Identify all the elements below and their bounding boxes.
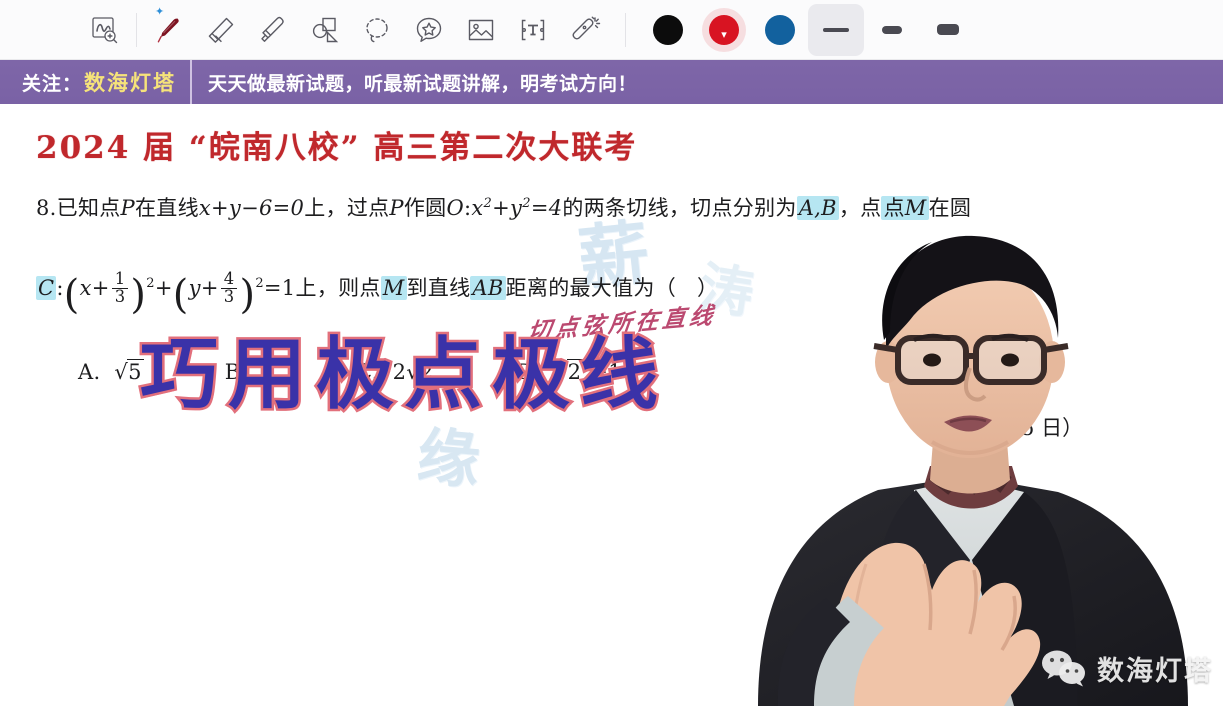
q-text-f: ，点 <box>839 196 882 220</box>
eraser-icon[interactable] <box>195 4 247 56</box>
q-text-2d: 距离的最大值为（ <box>506 276 676 300</box>
q-text-2b: ，则点 <box>317 276 381 300</box>
fraction-one-third: 13 <box>112 271 129 305</box>
overlay-title: 巧用极点极线 <box>140 312 668 424</box>
wechat-icon <box>1040 648 1088 688</box>
watermark-account-name: 数海灯塔 <box>1097 649 1213 688</box>
chevron-down-icon: ▾ <box>721 30 727 41</box>
option-a[interactable]: A. √5 <box>78 360 144 384</box>
q-colon: : <box>56 276 63 300</box>
text-box-icon[interactable] <box>507 4 559 56</box>
q-text-b: 在直线 <box>135 196 199 220</box>
paren-open-1: ( <box>64 272 80 318</box>
presenter-figure <box>718 160 1223 706</box>
presenter-video-overlay <box>718 160 1223 706</box>
q-circle-equation: x2+y2=4 <box>471 196 562 220</box>
q-text-a: 已知点 <box>57 196 121 220</box>
fraction-four-thirds: 43 <box>221 271 238 305</box>
q-text-c: 上，过点 <box>304 196 389 220</box>
q-y-plus: y+ <box>189 276 219 300</box>
thickness-bar <box>823 28 849 32</box>
thickness-thick[interactable] <box>920 4 976 56</box>
thickness-bar <box>882 26 902 34</box>
banner-brand-name: 数海灯塔 <box>84 67 176 97</box>
color-swatch <box>653 15 683 45</box>
exam-title: 2024 届 “皖南八校” 高三第二次大联考 <box>36 122 637 167</box>
question-number: 8. <box>36 196 57 220</box>
shapes-icon[interactable] <box>299 4 351 56</box>
color-swatch <box>765 15 795 45</box>
toolbar-divider-1 <box>136 13 137 47</box>
wechat-watermark: 数海灯塔 <box>1040 648 1213 688</box>
banner-slogan: 天天做最新试题，听最新试题讲解，明考试方向！ <box>192 69 637 96</box>
sticker-icon[interactable] <box>403 4 455 56</box>
q-equation-line: x+y−6=0 <box>199 196 304 220</box>
question-line-1: 8.已知点P在直线x+y−6=0上，过点P作圆O:x2+y2=4的两条切线，切点… <box>36 192 971 222</box>
pen-icon[interactable]: ✦ <box>143 4 195 56</box>
q-plus: + <box>155 276 173 300</box>
toolbar-divider-2 <box>625 13 626 47</box>
q-text-2c: 到直线 <box>407 276 471 300</box>
q-text-g: 在圆 <box>929 196 972 220</box>
bluetooth-icon: ✦ <box>155 7 164 18</box>
magic-eraser-icon[interactable] <box>559 4 611 56</box>
thickness-bar <box>937 24 959 35</box>
q-var-O: O <box>446 196 464 220</box>
thickness-medium[interactable] <box>864 4 920 56</box>
promo-banner: 关注： 数海灯塔 天天做最新试题，听最新试题讲解，明考试方向！ <box>0 60 1223 104</box>
q-x-plus: x+ <box>80 276 110 300</box>
q-text-e: 的两条切线，切点分别为 <box>562 196 796 220</box>
q-text-d: 作圆 <box>404 196 447 220</box>
color-blue[interactable] <box>752 4 808 56</box>
ink-zoom-icon[interactable] <box>78 4 130 56</box>
highlighter-icon[interactable] <box>247 4 299 56</box>
q-var-AB: A,B <box>797 196 839 220</box>
screen-root: ✦ <box>0 0 1223 706</box>
banner-follow-label: 关注： <box>22 69 82 96</box>
q-phrase-M: 点M <box>881 196 928 220</box>
drawing-toolbar: ✦ <box>0 0 1223 60</box>
image-icon[interactable] <box>455 4 507 56</box>
q-var-M2: M <box>381 276 407 300</box>
color-red[interactable]: ▾ <box>696 4 752 56</box>
q-shang: 上 <box>295 276 316 300</box>
option-a-key: A. <box>78 360 100 384</box>
q-var-AB2: AB <box>470 276 505 300</box>
lasso-select-icon[interactable] <box>351 4 403 56</box>
q-eq-one: =1 <box>264 276 296 300</box>
color-black[interactable] <box>640 4 696 56</box>
exam-date-fragment: 月 25 日） <box>980 412 1083 442</box>
q-var-P2: P <box>389 196 403 220</box>
q-var-P: P <box>121 196 135 220</box>
thickness-thin[interactable] <box>808 4 864 56</box>
document-canvas[interactable]: 关注： 数海灯塔 天天做最新试题，听最新试题讲解，明考试方向！ 2024 届 “… <box>0 60 1223 706</box>
q-var-C: C <box>36 276 56 300</box>
banner-brand-group: 关注： 数海灯塔 <box>0 60 192 104</box>
